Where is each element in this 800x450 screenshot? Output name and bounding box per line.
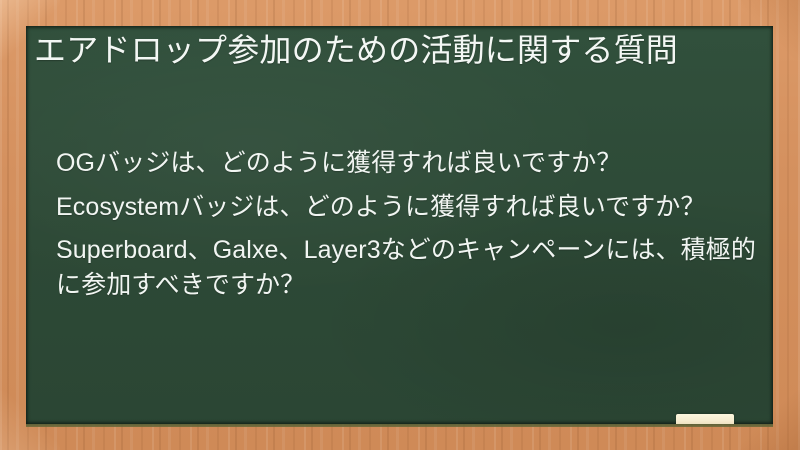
question-item-2: Ecosystemバッジは、どのように獲得すれば良いですか？ <box>56 190 756 225</box>
question-list: OGバッジは、どのように獲得すれば良いですか？ Ecosystemバッジは、どの… <box>56 146 756 311</box>
slide-title: エアドロップ参加のための活動に関する質問 <box>34 30 748 72</box>
chalk-stick-icon <box>676 414 734 424</box>
chalk-ledge-line <box>26 424 773 427</box>
question-item-3: Superboard、Galxe、Layer3などのキャンペーンには、積極的に参… <box>56 233 756 302</box>
question-item-1: OGバッジは、どのように獲得すれば良いですか？ <box>56 146 756 181</box>
chalkboard-content: エアドロップ参加のための活動に関する質問 OGバッジは、どのように獲得すれば良い… <box>26 26 773 424</box>
chalkboard-surface: エアドロップ参加のための活動に関する質問 OGバッジは、どのように獲得すれば良い… <box>26 26 773 424</box>
chalkboard-slide: エアドロップ参加のための活動に関する質問 OGバッジは、どのように獲得すれば良い… <box>0 0 800 450</box>
